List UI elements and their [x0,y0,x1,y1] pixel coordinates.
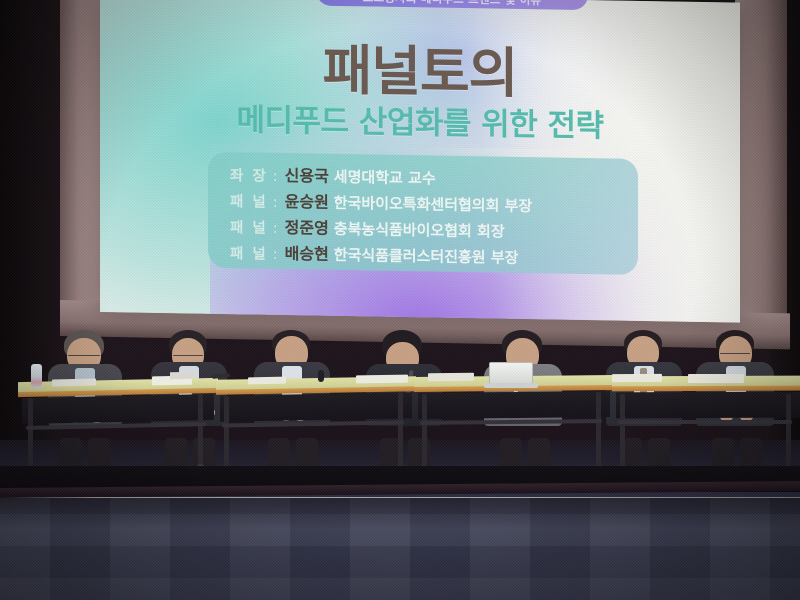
table-leg [398,392,403,468]
participant-name: 배승현 [285,240,329,265]
participant-affiliation: 한국바이오특화센터협의회 부장 [334,192,532,216]
photo-canvas: 초고령사회 메디푸드 트렌드 및 이슈 패널토의 메디푸드 산업화를 위한 전략… [0,0,800,600]
participant-name: 정준영 [285,214,329,239]
document-papers [688,374,744,383]
participant-affiliation: 세명대학교 교수 [334,166,436,189]
wall-frame-right [735,0,787,330]
slide-banner-pill: 초고령사회 메디푸드 트렌드 및 이슈 [316,0,588,10]
tablet-device[interactable] [489,362,533,384]
glasses-icon [68,355,100,360]
microphone-base [318,370,324,382]
participant-row: 패 널 : 배승현 한국식품클러스터진흥원 부장 [230,239,638,272]
table-1-skirt [22,394,214,424]
participant-affiliation: 한국식품클러스터진흥원 부장 [334,244,519,268]
wall-frame-left [60,0,102,322]
participant-role: 패 널 [230,242,268,264]
table-leg [422,394,427,470]
participant-role: 좌 장 [230,164,268,186]
document-papers [52,379,96,387]
document-papers [248,377,286,385]
document-papers [612,374,662,382]
tablet-stand [484,383,538,388]
presentation-slide: 초고령사회 메디푸드 트렌드 및 이슈 패널토의 메디푸드 산업화를 위한 전략… [100,0,740,323]
table-leg [620,394,625,472]
table-leg [198,394,203,468]
participant-separator: : [273,169,278,185]
screen-surface: 초고령사회 메디푸드 트렌드 및 이슈 패널토의 메디푸드 산업화를 위한 전략… [100,0,740,323]
document-papers [356,375,408,384]
participant-separator: : [273,221,278,237]
participant-affiliation: 충북농식품바이오협회 회장 [334,218,505,242]
table-leg [596,392,601,470]
participants-box: 좌 장 : 신용국 세명대학교 교수 패 널 : 윤승원 한국바이오특화센터협의… [208,152,638,275]
table-4-skirt [616,392,800,419]
glasses-icon [720,353,750,358]
participant-role: 패 널 [230,190,268,212]
participant-separator: : [273,195,278,211]
floor-shading [0,498,800,600]
projection-screen: 초고령사회 메디푸드 트렌드 및 이슈 패널토의 메디푸드 산업화를 위한 전략… [100,0,740,323]
participant-name: 신용국 [285,162,329,187]
auditorium-floor [0,498,800,600]
glasses-icon [173,355,203,360]
table-leg [786,394,791,472]
document-stack [170,372,196,379]
table-bar [618,420,792,424]
table-leg [224,396,229,470]
participant-name: 윤승원 [285,188,329,213]
participant-separator: : [273,247,278,263]
table-leg [28,398,33,470]
table-4-edge [612,386,800,392]
participant-role: 패 널 [230,216,268,238]
table-3-skirt [418,391,610,419]
table-2-skirt [220,392,412,421]
slide-subtitle: 메디푸드 산업화를 위한 전략 [100,92,740,148]
water-bottle [31,364,42,388]
document-papers [428,373,474,381]
